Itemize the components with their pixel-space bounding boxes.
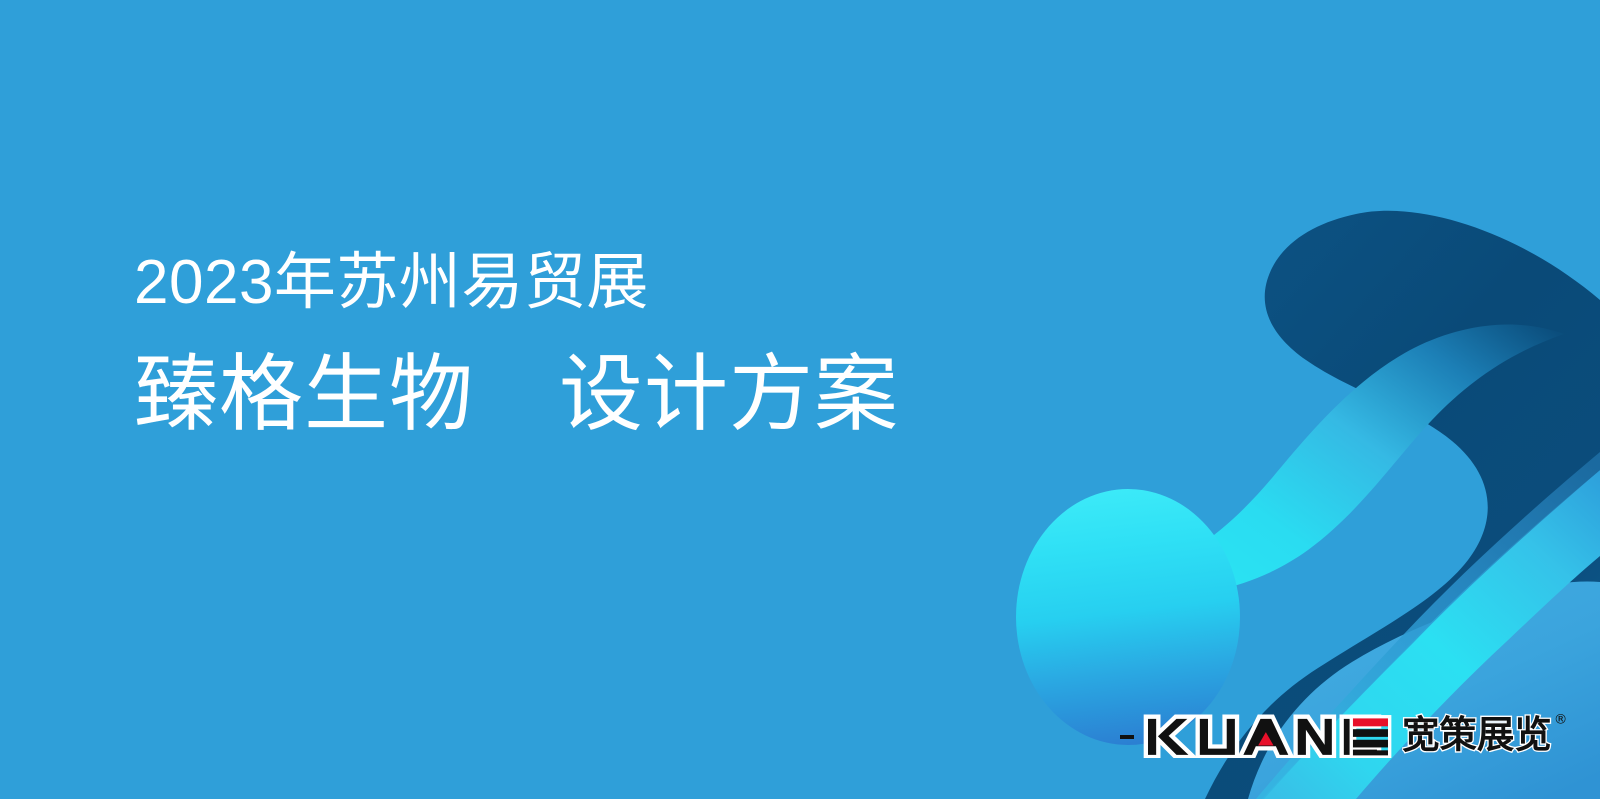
chinese-name-text: 宽策展览 xyxy=(1402,713,1552,757)
logo-e-bars xyxy=(1351,717,1389,757)
page-title: 2023年苏州易贸展 臻格生物 设计方案 xyxy=(134,246,974,442)
inner-blob-shape xyxy=(1248,581,1600,799)
title-line-1: 2023年苏州易贸展 xyxy=(134,246,974,320)
title-line-2: 臻格生物 设计方案 xyxy=(134,346,974,442)
cover-slide: 2023年苏州易贸展 臻格生物 设计方案 xyxy=(0,0,1600,799)
kuance-chinese-name: 宽策展览 ® xyxy=(1402,708,1579,760)
registered-mark-icon: ® xyxy=(1553,712,1567,728)
neck-shape xyxy=(1126,325,1564,597)
logo-dash-mark xyxy=(1120,735,1134,739)
kuance-wordmark xyxy=(1142,710,1392,758)
kuance-logo: 宽策展览 ® KUANCE 宽策展览® xyxy=(1120,702,1578,766)
